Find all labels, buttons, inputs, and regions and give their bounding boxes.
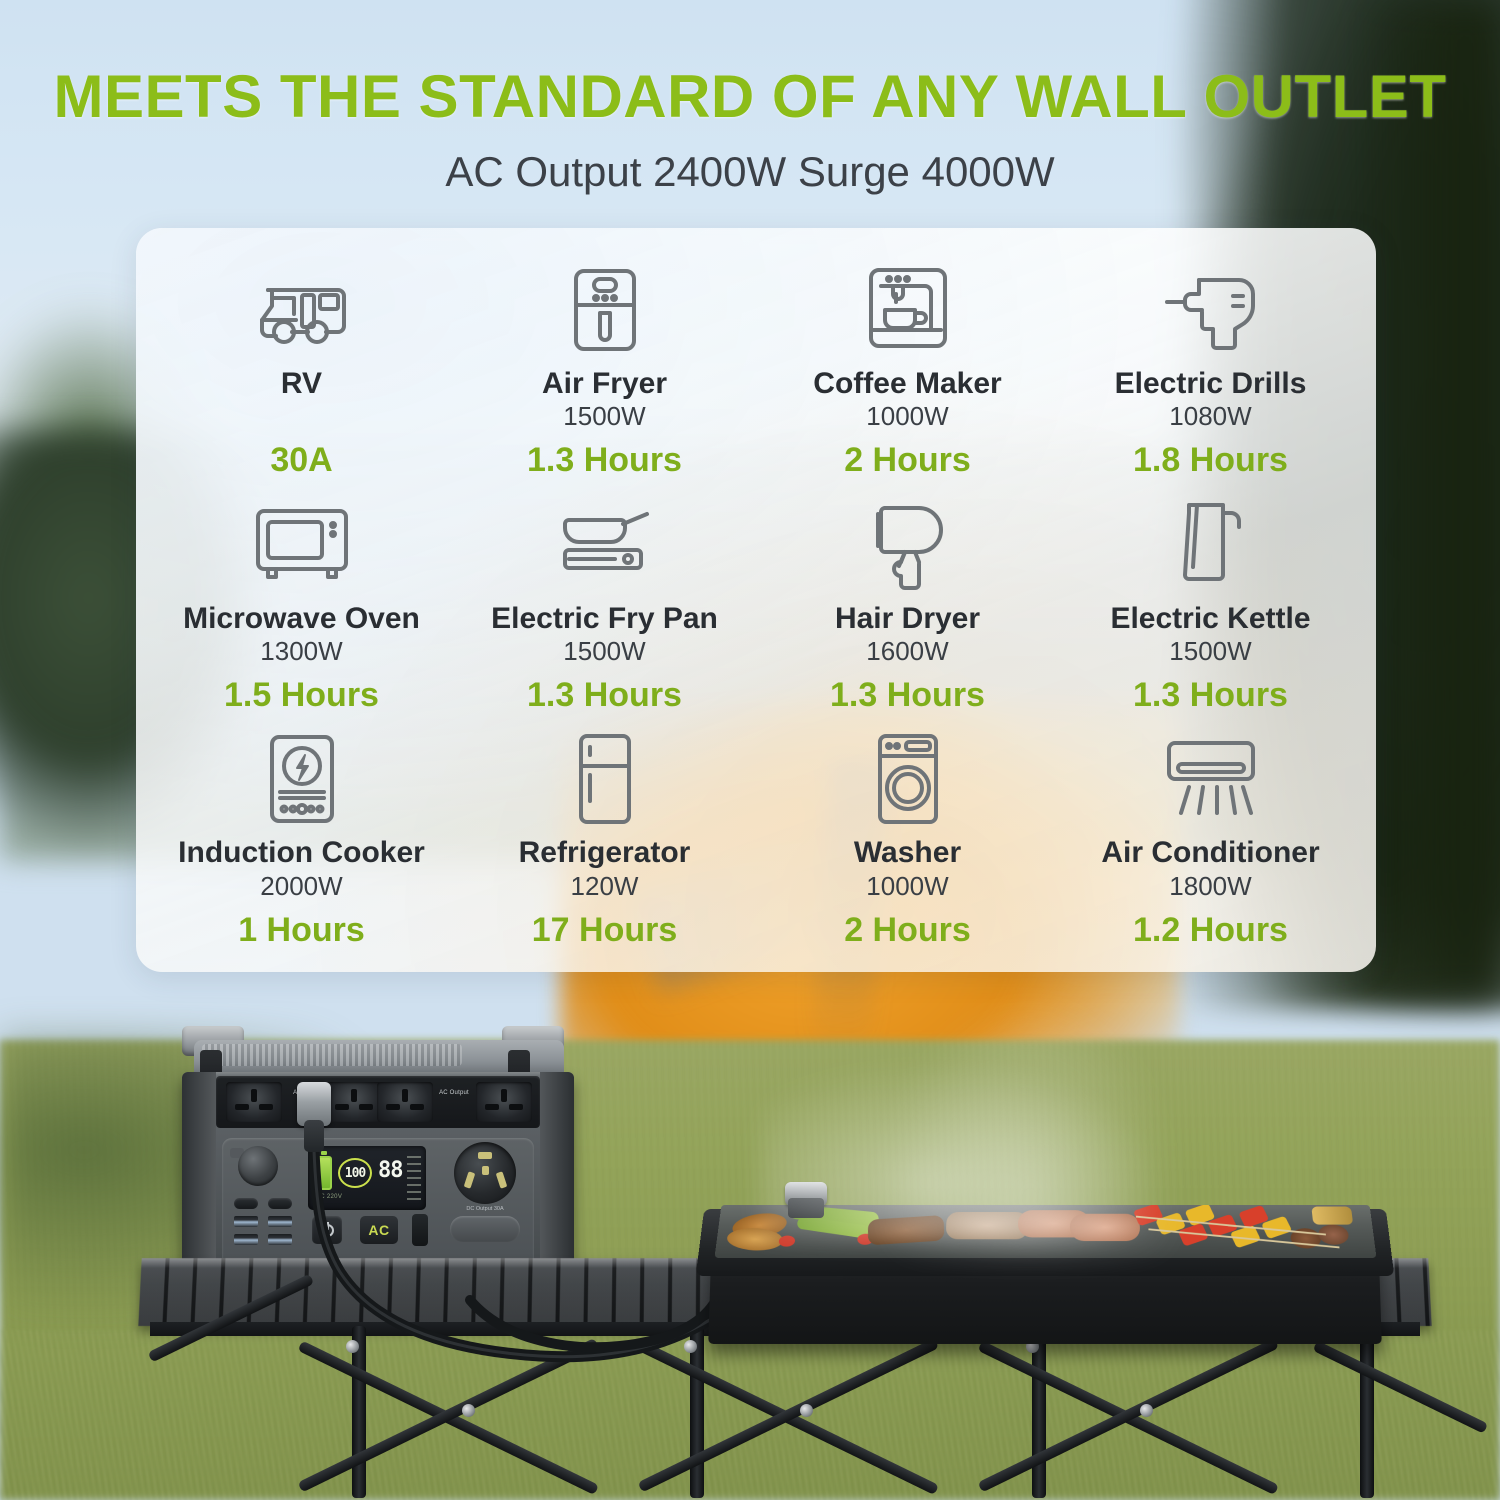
lcd-status-bars — [407, 1156, 421, 1200]
table-bolt-1 — [462, 1404, 475, 1417]
power-icon — [321, 1224, 334, 1237]
table-bolt-2 — [800, 1404, 813, 1417]
food-item — [868, 1215, 945, 1245]
ac-toggle-button[interactable]: AC — [360, 1216, 398, 1244]
ac-socket-4[interactable] — [476, 1082, 532, 1122]
rv-30a-outlet[interactable] — [454, 1142, 516, 1204]
battery-percent-value: 100 — [345, 1166, 365, 1181]
ac-socket-1[interactable] — [226, 1082, 282, 1122]
grill-knob-base — [788, 1198, 824, 1218]
ac-plug-neck — [304, 1120, 324, 1152]
lcd-display: 100 88 AC 220V — [308, 1146, 426, 1210]
device-top-vents — [202, 1044, 462, 1066]
electric-grill — [700, 1196, 1390, 1356]
output-watts-value: 88 — [378, 1158, 403, 1183]
usb-c-port-1[interactable] — [234, 1198, 258, 1209]
battery-percent-ring: 100 — [338, 1158, 372, 1188]
lcd-ac-voltage-label: AC 220V — [316, 1194, 342, 1200]
ac-socket-2[interactable] — [326, 1082, 382, 1122]
ac-socket-3[interactable] — [377, 1082, 433, 1122]
food-item — [946, 1212, 1028, 1239]
usb-port-group — [234, 1198, 296, 1258]
food-item — [778, 1236, 795, 1247]
usb-a-port-1[interactable] — [234, 1216, 258, 1227]
dc-toggle-button[interactable] — [412, 1214, 428, 1246]
table-bolt-5 — [684, 1340, 697, 1353]
ac-output-label-right: AC Output — [434, 1090, 474, 1098]
lower-vent-panel — [450, 1216, 520, 1242]
food-item — [1070, 1214, 1141, 1241]
usb-a-port-3[interactable] — [234, 1234, 258, 1245]
battery-icon — [316, 1156, 332, 1190]
food-item — [1311, 1207, 1353, 1225]
usb-a-port-2[interactable] — [268, 1216, 292, 1227]
battery-cap — [321, 1151, 327, 1155]
dc-output-label: DC Output 30A — [454, 1206, 516, 1212]
table-bolt-4 — [346, 1340, 359, 1353]
usb-c-port-2[interactable] — [268, 1198, 292, 1209]
foreground-product-scene: AC Output AC Output 100 88 AC 220V AC — [0, 0, 1500, 1500]
power-button[interactable] — [312, 1216, 342, 1244]
dc-input-port-cover[interactable] — [238, 1146, 278, 1186]
usb-a-port-4[interactable] — [268, 1234, 292, 1245]
table-bolt-3 — [1140, 1404, 1153, 1417]
